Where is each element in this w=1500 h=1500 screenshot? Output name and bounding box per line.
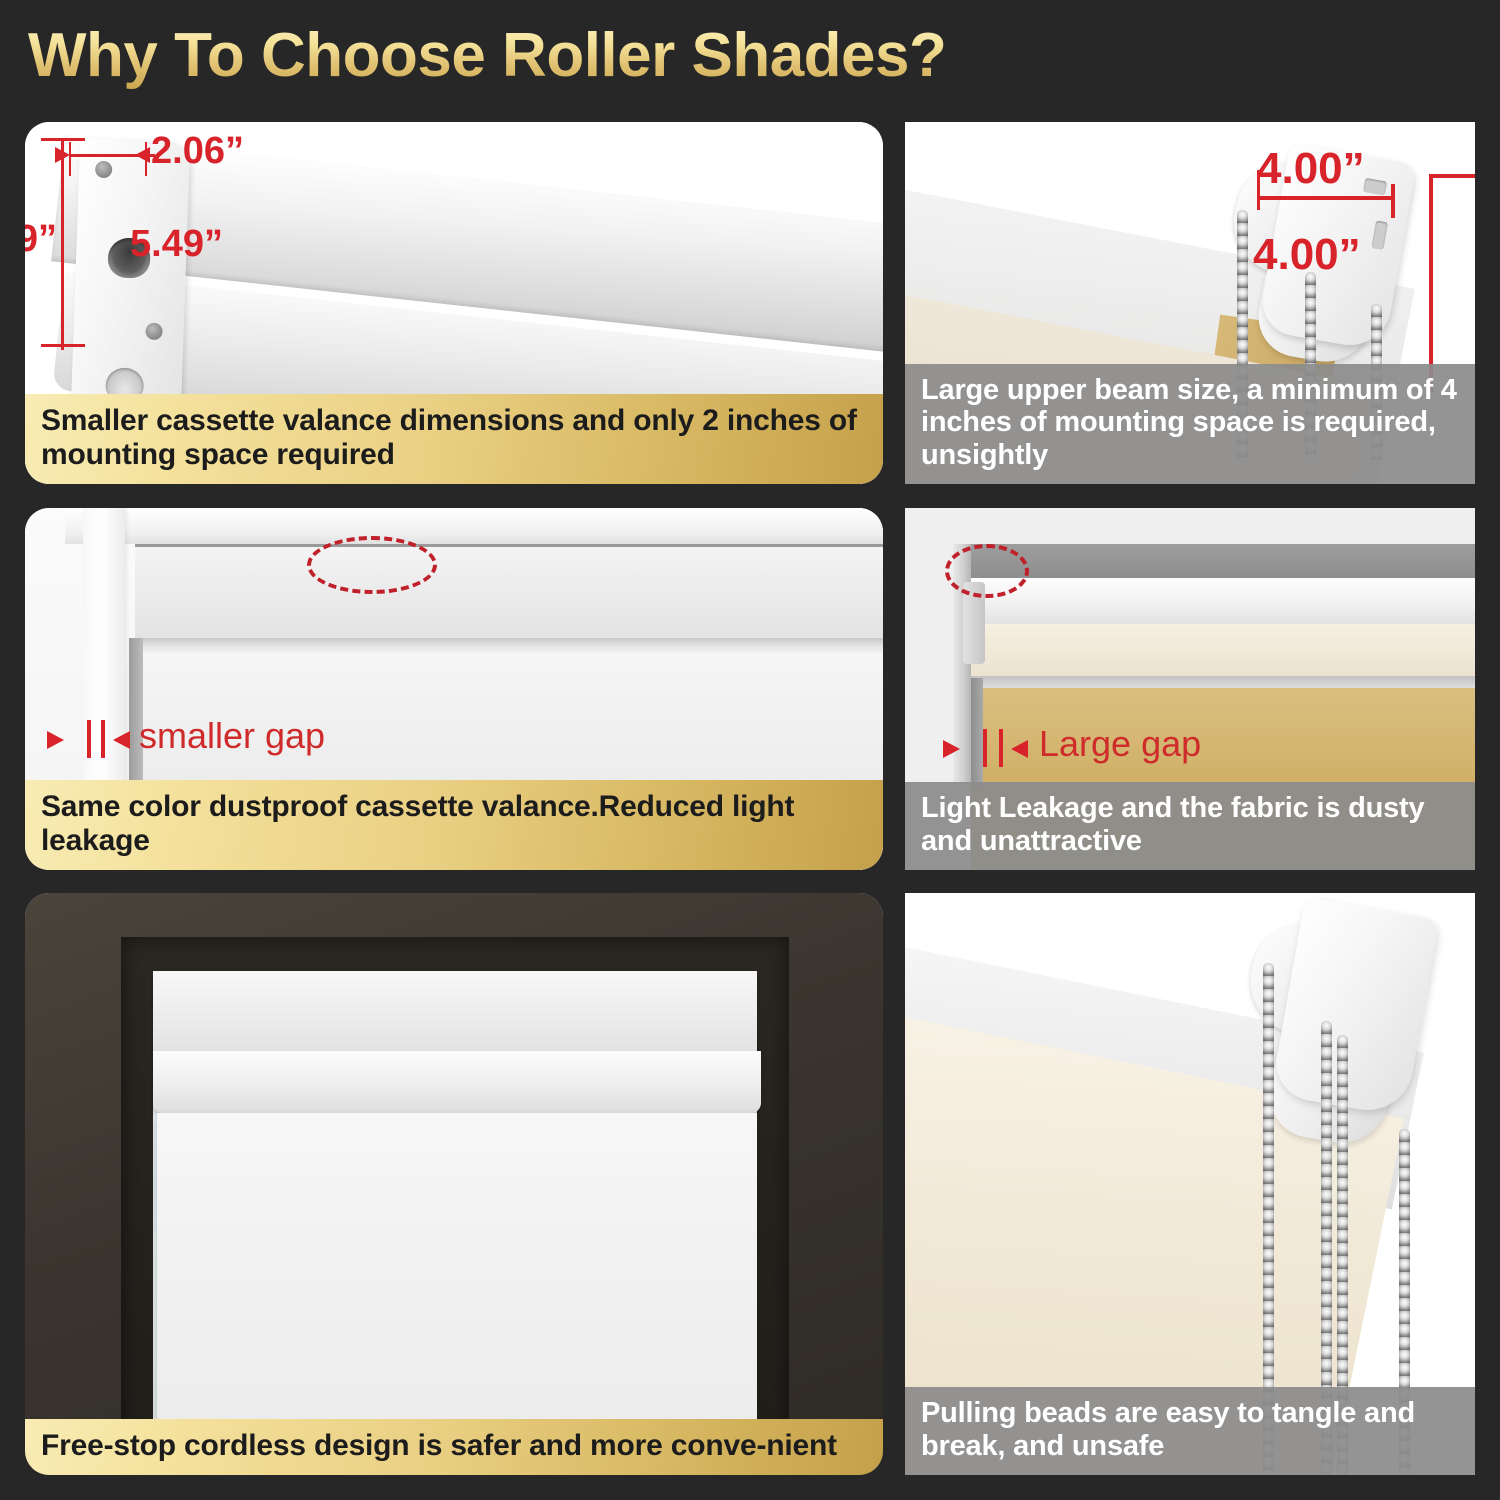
gap-callout-label: Large gap xyxy=(1039,723,1201,765)
valance-front-lip xyxy=(153,1051,761,1113)
gap-tick-b xyxy=(999,729,1003,767)
panel-1-caption: Smaller cassette valance dimensions and … xyxy=(25,394,883,484)
gap-arrow-left xyxy=(943,740,960,758)
gap-callout-label: smaller gap xyxy=(139,715,325,757)
screw-icon xyxy=(145,323,163,341)
dimension-label-beam-height: 4.00” xyxy=(1253,230,1361,280)
window-frame-left xyxy=(83,508,125,818)
gap-arrow-left xyxy=(47,731,64,749)
gap-tick-a xyxy=(87,720,91,758)
dim-cap-top xyxy=(1429,174,1475,178)
dim-tick-right xyxy=(1391,184,1395,218)
dim-arrow-right xyxy=(135,147,150,163)
window-frame-top xyxy=(65,508,883,544)
gap-arrow-right xyxy=(1011,740,1028,758)
upper-beam xyxy=(957,578,1475,624)
dimension-label-5-49: 5.49” xyxy=(130,223,223,266)
panel-large-gap: Large gap Light Leakage and the fabric i… xyxy=(905,508,1475,870)
highlight-ellipse xyxy=(945,544,1029,598)
dim-cap-bottom xyxy=(41,344,85,347)
dimension-label-height: 5.49” xyxy=(25,218,57,261)
dimension-label-height-visible xyxy=(59,218,70,261)
cassette-valance xyxy=(153,971,757,1051)
bracket-slot-icon xyxy=(1363,178,1387,196)
side-gap-shadow xyxy=(971,678,983,788)
highlight-ellipse xyxy=(307,536,437,594)
panel-6-caption: Pulling beads are easy to tangle and bre… xyxy=(905,1387,1475,1475)
panel-5-photo xyxy=(25,893,883,1475)
panel-4-caption: Light Leakage and the fabric is dusty an… xyxy=(905,782,1475,870)
panel-2-caption: Large upper beam size, a minimum of 4 in… xyxy=(905,364,1475,484)
dim-cap-top xyxy=(41,138,85,141)
gap-tick-a xyxy=(983,729,987,767)
page-title: Why To Choose Roller Shades? xyxy=(28,20,946,91)
infographic-root: Why To Choose Roller Shades? 2.06” xyxy=(0,0,1500,1500)
cream-valance-band xyxy=(961,624,1475,676)
dimension-label-width: 2.06” xyxy=(151,130,244,173)
shade-fabric xyxy=(157,1113,757,1461)
panel-5-caption: Free-stop cordless design is safer and m… xyxy=(25,1419,883,1475)
panel-smaller-gap: smaller gap Same color dustproof cassett… xyxy=(25,508,883,870)
bottom-rail xyxy=(965,676,1475,688)
gap-tick-b xyxy=(101,720,105,758)
panel-smaller-cassette: 2.06” 5.49” Smaller cassette valance dim… xyxy=(25,122,883,484)
panel-large-upper-beam: 4.00” 4.00” Large upper beam size, a min… xyxy=(905,122,1475,484)
valance-bottom-rail xyxy=(135,638,883,654)
dim-line-width xyxy=(1257,196,1393,200)
cassette-valance xyxy=(135,544,883,638)
dim-line-height xyxy=(1429,174,1433,392)
dimension-label-beam-width: 4.00” xyxy=(1257,144,1365,194)
panel-pulling-beads: Pulling beads are easy to tangle and bre… xyxy=(905,893,1475,1475)
gap-arrow-right xyxy=(113,731,130,749)
upper-beam-shadow xyxy=(957,544,1475,578)
bracket-slot-icon xyxy=(1371,220,1388,250)
panel-cordless-design: Free-stop cordless design is safer and m… xyxy=(25,893,883,1475)
screw-icon xyxy=(95,161,113,179)
panel-3-caption: Same color dustproof cassette valance.Re… xyxy=(25,780,883,870)
